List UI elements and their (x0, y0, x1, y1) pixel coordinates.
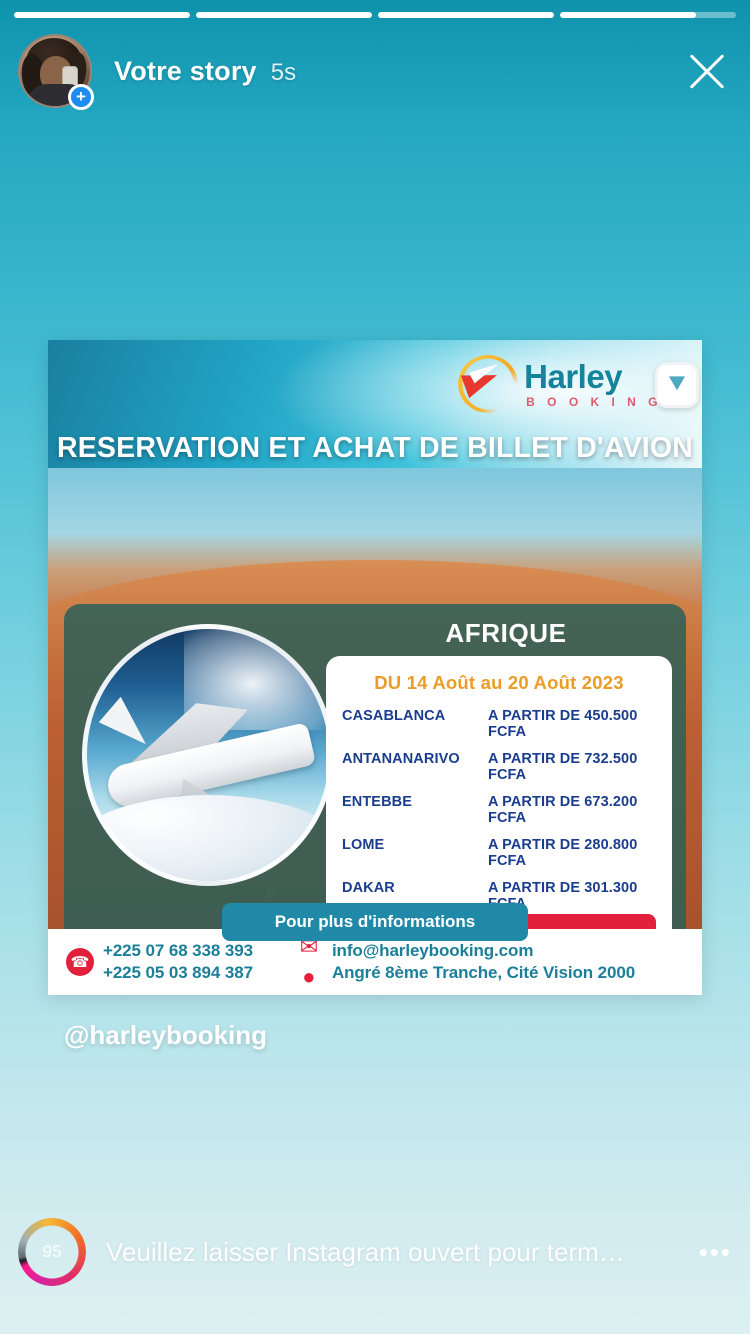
story-progress-fill (14, 12, 190, 18)
price-row: ANTANANARIVO A PARTIR DE 732.500 FCFA (342, 751, 656, 783)
upload-status-bar: 95 Veuillez laisser Instagram ouvert pou… (0, 1216, 750, 1288)
more-options-icon[interactable]: ••• (699, 1237, 732, 1268)
phone-number-1: +225 07 68 338 393 (103, 941, 253, 961)
harley-booking-logo: Harley B O O K I N G (456, 352, 662, 416)
story-elapsed-time: 5s (271, 59, 296, 87)
story-progress-fill (196, 12, 372, 18)
phone-icon: ☎ (66, 948, 94, 976)
story-username[interactable]: Votre story (114, 56, 257, 87)
price-list-card: DU 14 Août au 20 Août 2023 CASABLANCA A … (326, 656, 672, 930)
physical-address: Angré 8ème Tranche, Cité Vision 2000 (332, 963, 635, 983)
overlay-sticker-icon (655, 362, 699, 408)
flyer-headline: RESERVATION ET ACHAT DE BILLET D'AVION (48, 432, 702, 465)
story-progress-fill (378, 12, 554, 18)
story-progress-segment[interactable] (14, 12, 190, 18)
price-city: ENTEBBE (342, 794, 488, 810)
upload-progress-ring: 95 (18, 1218, 86, 1286)
offer-panel: AFRIQUE DU 14 Août au 20 Août 2023 CASAB… (64, 604, 686, 930)
story-progress-bars (14, 12, 736, 18)
airplane-tail (96, 694, 146, 750)
price-value: A PARTIR DE 450.500 FCFA (488, 708, 656, 740)
upload-message: Veuillez laisser Instagram ouvert pour t… (106, 1237, 687, 1268)
story-caption: @harleybooking (64, 1020, 267, 1051)
paper-plane-logo-icon (456, 353, 520, 415)
location-pin-icon: ● (295, 963, 323, 991)
price-city: ANTANANARIVO (342, 751, 488, 767)
story-progress-segment[interactable] (196, 12, 372, 18)
logo-brand-name: Harley (524, 360, 662, 393)
add-story-plus-icon[interactable]: + (68, 84, 94, 110)
story-progress-segment[interactable] (378, 12, 554, 18)
airplane-photo (82, 624, 334, 886)
price-city: CASABLANCA (342, 708, 488, 724)
region-title: AFRIQUE (326, 618, 686, 649)
logo-text: Harley B O O K I N G (524, 360, 662, 408)
avatar[interactable]: + (18, 34, 92, 108)
story-progress-segment[interactable] (560, 12, 736, 18)
story-progress-fill (560, 12, 696, 18)
flyer-background-photo-desert: AFRIQUE DU 14 Août au 20 Août 2023 CASAB… (48, 468, 702, 930)
cloud-base (82, 795, 334, 886)
contact-phone-block: ☎ +225 07 68 338 393 +225 05 03 894 387 (66, 941, 253, 983)
contact-icons: ✉ ● (295, 933, 323, 991)
offer-date-range: DU 14 Août au 20 Août 2023 (342, 672, 656, 694)
price-value: A PARTIR DE 673.200 FCFA (488, 794, 656, 826)
price-row: CASABLANCA A PARTIR DE 450.500 FCFA (342, 708, 656, 740)
logo-brand-subtitle: B O O K I N G (526, 396, 662, 408)
story-media-flyer[interactable]: Harley B O O K I N G RESERVATION ET ACHA… (48, 340, 702, 995)
more-information-button[interactable]: Pour plus d'informations (222, 903, 528, 941)
story-header: + Votre story 5s (0, 32, 750, 110)
price-value: A PARTIR DE 280.800 FCFA (488, 837, 656, 869)
close-icon[interactable] (682, 46, 732, 96)
price-city: DAKAR (342, 880, 488, 896)
price-value: A PARTIR DE 732.500 FCFA (488, 751, 656, 783)
phone-number-2: +225 05 03 894 387 (103, 963, 253, 983)
price-row: ENTEBBE A PARTIR DE 673.200 FCFA (342, 794, 656, 826)
price-city: LOME (342, 837, 488, 853)
email-and-address: info@harleybooking.com Angré 8ème Tranch… (332, 941, 635, 983)
phone-numbers: +225 07 68 338 393 +225 05 03 894 387 (103, 941, 253, 983)
email-address: info@harleybooking.com (332, 941, 635, 961)
price-row: LOME A PARTIR DE 280.800 FCFA (342, 837, 656, 869)
contact-email-address-block: ✉ ● info@harleybooking.com Angré 8ème Tr… (295, 933, 635, 991)
story-header-text: Votre story 5s (114, 56, 296, 87)
upload-percent-label: 95 (18, 1218, 86, 1286)
